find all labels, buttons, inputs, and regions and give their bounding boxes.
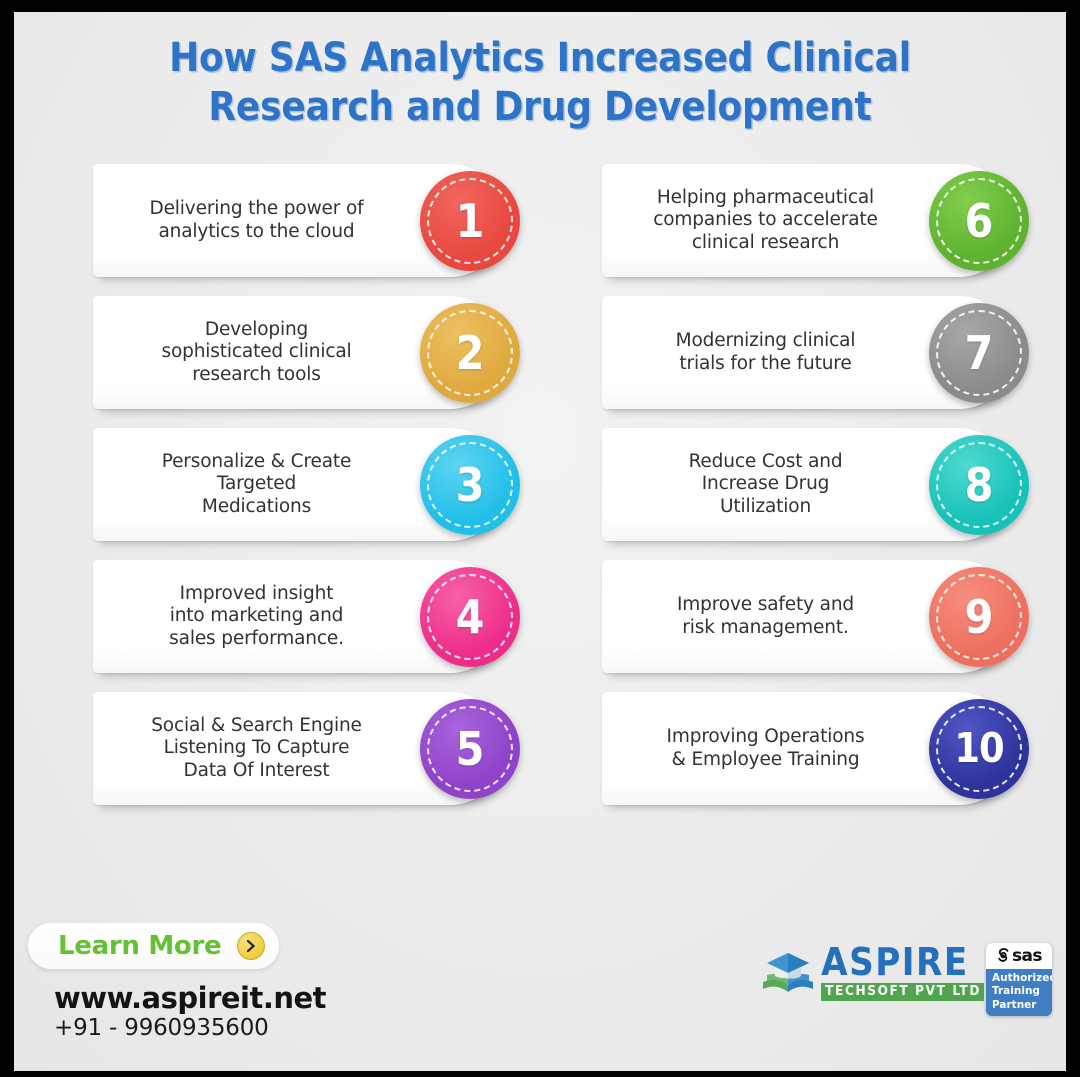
benefit-card-2-number: 2	[456, 330, 485, 376]
benefit-card-3[interactable]: Personalize & Create Targeted Medication…	[93, 428, 506, 541]
aspire-subtitle: TECHSOFT PVT LTD	[821, 983, 984, 1001]
benefit-card-8-number-badge: 8	[929, 435, 1029, 535]
benefit-card-5-line-2: Listening To Capture	[164, 737, 350, 758]
benefit-card-6-number: 6	[965, 198, 994, 244]
benefit-card-1[interactable]: Delivering the power of analytics to the…	[93, 164, 506, 277]
benefit-card-7[interactable]: Modernizing clinical trials for the futu…	[602, 296, 1015, 409]
benefit-card-2-line-3: research tools	[192, 364, 320, 385]
learn-more-button[interactable]: Learn More	[28, 923, 279, 969]
benefit-card-7-number-badge: 7	[929, 303, 1029, 403]
sas-caption-line-1: Authorized	[992, 972, 1052, 985]
benefit-card-10-line-1: Improving Operations	[667, 726, 865, 747]
benefit-card-3-number-badge: 3	[420, 435, 520, 535]
benefit-card-10-line-2: & Employee Training	[672, 749, 860, 770]
benefit-card-5-number: 5	[456, 726, 485, 772]
benefit-card-8-line-2: Increase Drug	[702, 473, 830, 494]
benefit-card-2-number-badge: 2	[420, 303, 520, 403]
benefit-card-6-number-badge: 6	[929, 171, 1029, 271]
benefit-card-6-line-1: Helping pharmaceutical	[657, 187, 874, 208]
benefit-card-9-number: 9	[965, 594, 994, 640]
benefit-card-3-line-3: Medications	[202, 496, 311, 517]
benefit-card-7-number: 7	[965, 330, 994, 376]
benefit-card-1-line-1: Delivering the power of	[149, 198, 363, 219]
benefit-card-4-line-3: sales performance.	[169, 628, 344, 649]
aspire-wordmark: ASPIRE TECHSOFT PVT LTD	[821, 943, 984, 1001]
page-title-line-1: How SAS Analytics Increased Clinical	[74, 34, 1006, 83]
benefit-card-9-line-2: risk management.	[682, 617, 848, 638]
learn-more-label: Learn More	[58, 931, 221, 961]
sas-caption-line-3: Partner	[992, 999, 1052, 1012]
benefit-card-4-line-1: Improved insight	[180, 583, 334, 604]
benefit-card-5-line-1: Social & Search Engine	[151, 715, 362, 736]
benefit-card-3-number: 3	[456, 462, 485, 508]
aspire-name: ASPIRE	[821, 943, 984, 981]
benefit-card-10-number: 10	[954, 728, 1003, 769]
benefit-card-8[interactable]: Reduce Cost and Increase Drug Utilizatio…	[602, 428, 1015, 541]
benefit-card-8-line-3: Utilization	[720, 496, 811, 517]
page-title-line-2: Research and Drug Development	[74, 83, 1006, 132]
website-text[interactable]: www.aspireit.net	[54, 981, 326, 1015]
footer: Learn More www.aspireit.net +91 - 996093…	[14, 923, 1066, 1071]
benefit-card-5[interactable]: Social & Search Engine Listening To Capt…	[93, 692, 506, 805]
benefit-card-3-line-1: Personalize & Create	[162, 451, 352, 472]
phone-text[interactable]: +91 - 9960935600	[54, 1015, 269, 1041]
chevron-right-icon[interactable]	[237, 932, 265, 960]
poster-frame: How SAS Analytics Increased Clinical Res…	[0, 0, 1080, 1077]
benefit-card-7-line-1: Modernizing clinical	[676, 330, 856, 351]
benefit-card-6-line-3: clinical research	[692, 232, 839, 253]
benefit-card-10-number-badge: 10	[929, 699, 1029, 799]
benefit-card-5-number-badge: 5	[420, 699, 520, 799]
benefit-card-1-line-2: analytics to the cloud	[158, 221, 354, 242]
page-title: How SAS Analytics Increased Clinical Res…	[14, 34, 1066, 132]
benefit-card-6-line-2: companies to accelerate	[653, 209, 878, 230]
benefit-card-2-line-1: Developing	[205, 319, 308, 340]
benefit-card-7-line-2: trials for the future	[679, 353, 851, 374]
benefit-card-9[interactable]: Improve safety and risk management. 9	[602, 560, 1015, 673]
benefit-card-4-number-badge: 4	[420, 567, 520, 667]
benefit-card-10[interactable]: Improving Operations & Employee Training…	[602, 692, 1015, 805]
benefit-card-4-line-2: into marketing and	[170, 605, 344, 626]
graduation-cap-book-icon	[761, 948, 817, 996]
sas-logo: sas	[986, 943, 1052, 969]
benefit-card-1-number: 1	[456, 198, 485, 244]
logo-group: ASPIRE TECHSOFT PVT LTD sas Authorized	[761, 943, 1052, 1016]
benefit-card-5-line-3: Data Of Interest	[184, 760, 330, 781]
benefit-card-8-line-1: Reduce Cost and	[689, 451, 843, 472]
poster-canvas: How SAS Analytics Increased Clinical Res…	[14, 12, 1066, 1071]
benefit-card-9-number-badge: 9	[929, 567, 1029, 667]
benefit-card-1-number-badge: 1	[420, 171, 520, 271]
benefit-card-4[interactable]: Improved insight into marketing and sale…	[93, 560, 506, 673]
benefit-card-6[interactable]: Helping pharmaceutical companies to acce…	[602, 164, 1015, 277]
sas-caption-line-2: Training	[992, 985, 1052, 998]
benefit-card-grid: Delivering the power of analytics to the…	[93, 164, 1015, 805]
sas-swirl-icon	[996, 947, 1011, 965]
benefit-card-2-line-2: sophisticated clinical	[161, 341, 351, 362]
sas-authorized-training-partner-badge: sas Authorized Training Partner	[986, 943, 1052, 1016]
benefit-card-3-line-2: Targeted	[217, 473, 296, 494]
sas-wordmark: sas	[1012, 946, 1042, 966]
benefit-card-8-number: 8	[965, 462, 994, 508]
benefit-card-4-number: 4	[456, 594, 485, 640]
benefit-card-2[interactable]: Developing sophisticated clinical resear…	[93, 296, 506, 409]
aspire-logo: ASPIRE TECHSOFT PVT LTD	[761, 943, 984, 1001]
sas-badge-caption: Authorized Training Partner	[986, 969, 1052, 1016]
benefit-card-9-line-1: Improve safety and	[677, 594, 854, 615]
